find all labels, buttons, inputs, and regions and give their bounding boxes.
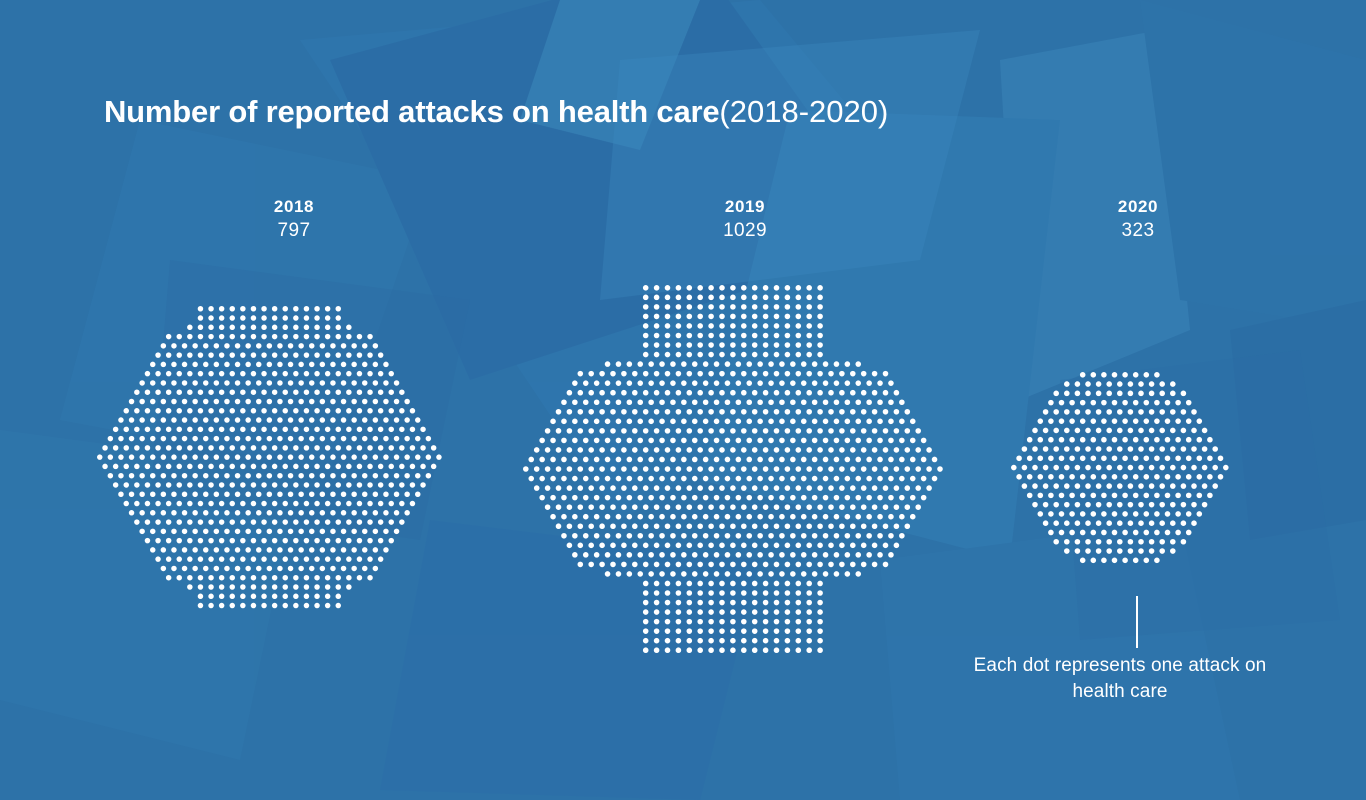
year-group-2020: 2020 323 (1028, 196, 1248, 244)
year-label-2018: 2018 (184, 196, 404, 218)
dot-grid-2019 (522, 284, 944, 654)
annotation-leader-line (1136, 596, 1138, 648)
page-title: Number of reported attacks on health car… (104, 92, 888, 132)
dot-cluster-2018 (96, 305, 443, 609)
bg-shape-tall-right (1140, 0, 1366, 330)
infographic-canvas: Number of reported attacks on health car… (0, 0, 1366, 800)
dot-marks (97, 306, 442, 608)
dot-cluster-2019 (522, 284, 944, 654)
dot-grid-2020 (1010, 371, 1230, 564)
dot-grid-2018 (96, 305, 443, 609)
bg-shape-accent-a (600, 30, 980, 300)
page-title-period: (2018-2020) (719, 94, 888, 129)
dot-marks (1011, 372, 1229, 563)
year-label-2020: 2020 (1028, 196, 1248, 218)
year-label-2019: 2019 (635, 196, 855, 218)
year-group-2019: 2019 1029 (635, 196, 855, 244)
year-value-2019: 1029 (635, 218, 855, 244)
year-value-2018: 797 (184, 218, 404, 244)
year-group-2018: 2018 797 (184, 196, 404, 244)
annotation-label: Each dot represents one attack on health… (960, 653, 1280, 705)
dot-cluster-2020 (1010, 371, 1230, 564)
dot-marks (523, 285, 943, 653)
bg-shape-sliver-right (1230, 300, 1366, 540)
year-value-2020: 323 (1028, 218, 1248, 244)
page-title-main: Number of reported attacks on health car… (104, 94, 719, 129)
